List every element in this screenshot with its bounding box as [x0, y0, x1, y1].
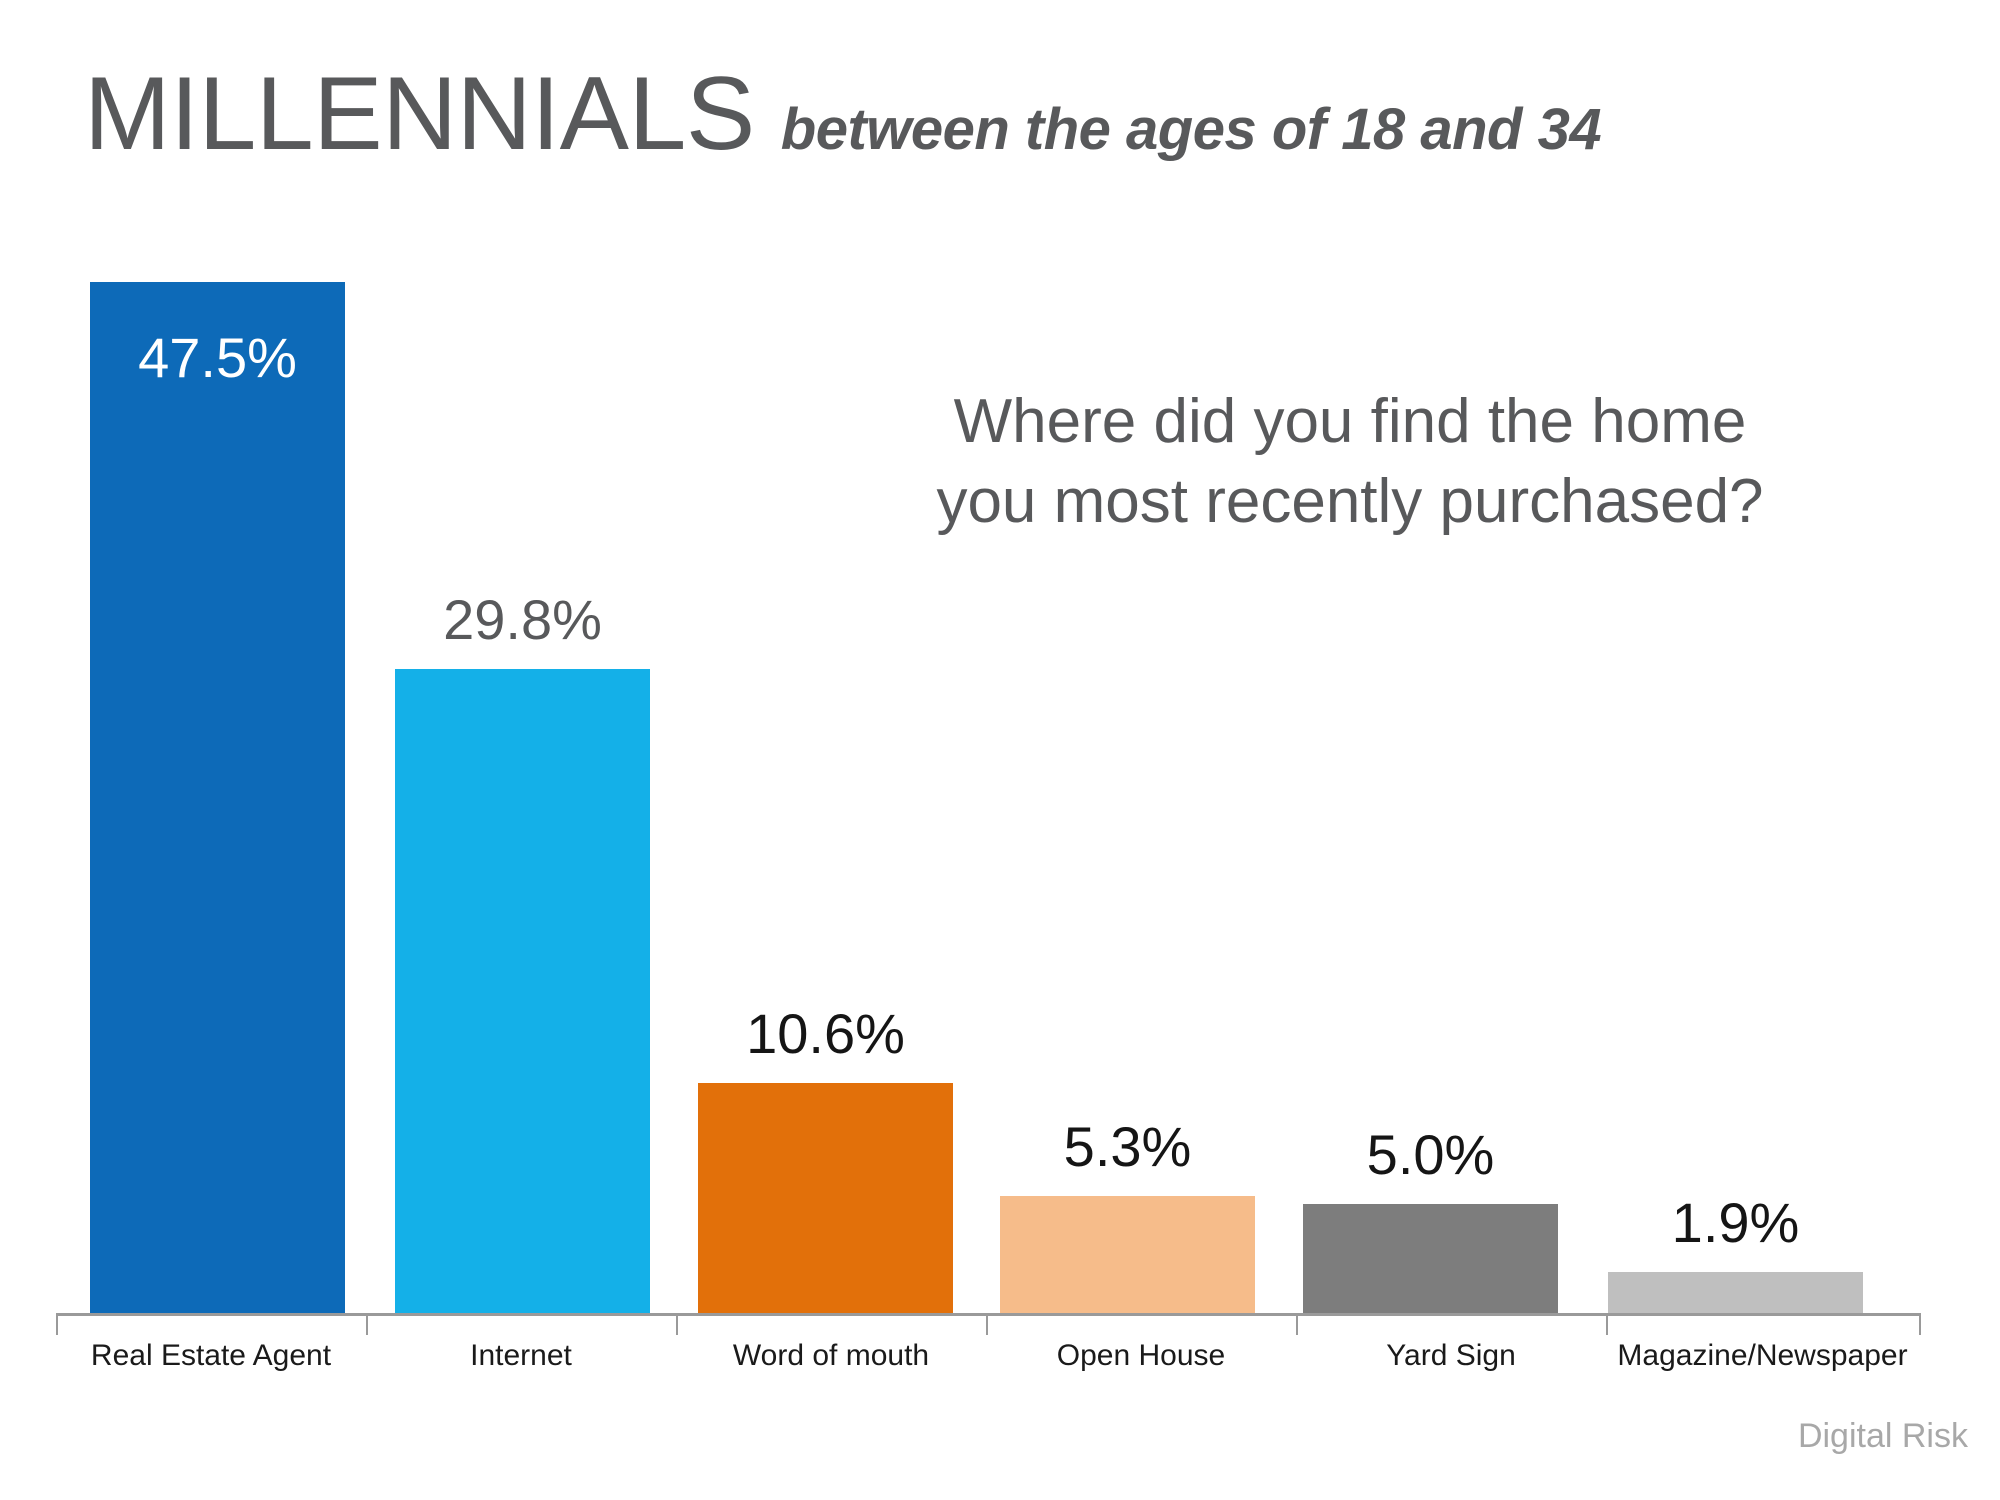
bar-word-of-mouth: [698, 1083, 953, 1313]
bar-value-yard-sign: 5.0%: [1303, 1127, 1558, 1183]
bar-open-house: [1000, 1196, 1255, 1313]
source-attribution: Digital Risk: [1798, 1416, 1968, 1456]
bar-value-open-house: 5.3%: [1000, 1119, 1255, 1175]
x-axis-label-internet: Internet: [366, 1337, 676, 1375]
bar-value-magazine-newspaper: 1.9%: [1608, 1195, 1863, 1251]
x-axis-label-yard-sign: Yard Sign: [1296, 1337, 1606, 1375]
x-axis-line: [56, 1313, 1921, 1316]
bar-chart: 47.5% 29.8% 10.6% 5.3% 5.0% 1.9% Real Es…: [0, 0, 2000, 1500]
bar-value-real-estate-agent: 47.5%: [90, 330, 345, 386]
x-axis-tick: [986, 1313, 988, 1335]
x-axis-label-real-estate-agent: Real Estate Agent: [56, 1337, 366, 1375]
x-axis-tick: [1919, 1313, 1921, 1335]
bar-internet: [395, 669, 650, 1313]
x-axis-label-open-house: Open House: [986, 1337, 1296, 1375]
x-axis-tick: [1296, 1313, 1298, 1335]
bar-value-internet: 29.8%: [395, 592, 650, 648]
x-axis-tick: [676, 1313, 678, 1335]
bar-yard-sign: [1303, 1204, 1558, 1313]
bar-real-estate-agent: [90, 282, 345, 1313]
bar-value-word-of-mouth: 10.6%: [698, 1006, 953, 1062]
x-axis-tick: [1606, 1313, 1608, 1335]
infographic-slide: MILLENNIALS between the ages of 18 and 3…: [0, 0, 2000, 1500]
x-axis-label-word-of-mouth: Word of mouth: [676, 1337, 986, 1375]
bar-magazine-newspaper: [1608, 1272, 1863, 1313]
x-axis-tick: [56, 1313, 58, 1335]
x-axis-label-magazine-newspaper: Magazine/Newspaper: [1606, 1337, 1919, 1375]
x-axis-tick: [366, 1313, 368, 1335]
